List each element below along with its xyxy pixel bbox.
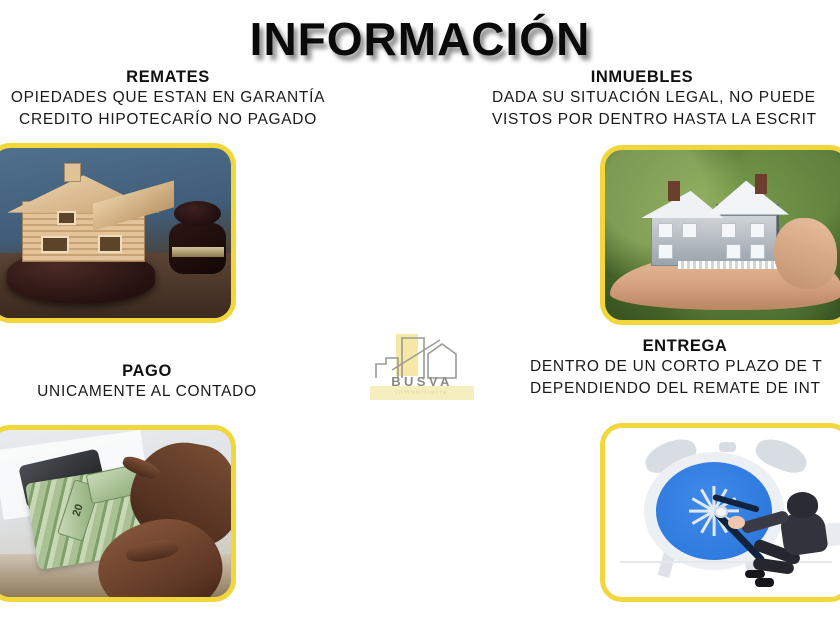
image-card-inmuebles [600, 145, 840, 325]
section-remates-line1: OPIEDADES QUE ESTAN EN GARANTÍA [0, 87, 358, 109]
section-inmuebles-line2: VISTOS POR DENTRO HASTA LA ESCRIT [492, 109, 840, 131]
image-card-pago: 20 20 [0, 425, 236, 602]
section-inmuebles-line1: DADA SU SITUACIÓN LEGAL, NO PUEDE [492, 87, 840, 109]
clock-center-pin [714, 506, 729, 518]
counting-money-photo: 20 20 [0, 430, 231, 597]
section-pago-text: PAGO UNICAMENTE AL CONTADO [0, 362, 312, 403]
cabin-window [57, 211, 76, 225]
section-entrega-heading: ENTREGA [530, 337, 840, 356]
section-pago-line1: UNICAMENTE AL CONTADO [0, 381, 312, 403]
busva-logo: BUSVA inmobiliaria [368, 330, 476, 406]
house-chimney [755, 174, 767, 194]
house-window [726, 244, 741, 259]
house-chimney [668, 181, 680, 201]
section-pago-heading: PAGO [0, 362, 312, 381]
page-title: INFORMACIÓN [0, 12, 840, 66]
hand-house-photo [605, 150, 840, 320]
person-shoe [755, 578, 774, 586]
illustration-floor-line [620, 561, 833, 563]
section-entrega-line2: DEPENDIENDO DEL REMATE DE INT [530, 378, 840, 400]
cabin-window [41, 236, 70, 253]
image-card-remates [0, 143, 236, 323]
logo-name: BUSVA [368, 374, 476, 389]
alarm-knob [719, 442, 736, 452]
section-entrega-text: ENTREGA DENTRO DE UN CORTO PLAZO DE T DE… [530, 337, 840, 400]
house-window [721, 223, 736, 238]
clock-illustration [605, 428, 840, 597]
house-window [750, 223, 765, 238]
section-remates-heading: REMATES [0, 68, 358, 87]
section-entrega-line1: DENTRO DE UN CORTO PLAZO DE T [530, 356, 840, 378]
house-window [682, 223, 697, 238]
logo-buildings-icon [368, 330, 476, 380]
cabin-window [98, 235, 122, 254]
section-remates-text: REMATES OPIEDADES QUE ESTAN EN GARANTÍA … [0, 68, 358, 131]
section-remates-line2: CREDITO HIPOTECARÍO NO PAGADO [0, 109, 358, 131]
person-head [787, 492, 818, 517]
cabin-gavel-photo [0, 148, 231, 318]
house-window [658, 223, 673, 238]
image-card-entrega [600, 423, 840, 602]
logo-subtitle: inmobiliaria [368, 390, 476, 396]
section-inmuebles-heading: INMUEBLES [492, 68, 792, 87]
information-poster: INFORMACIÓN REMATES OPIEDADES QUE ESTAN … [0, 0, 840, 630]
cabin-chimney [64, 163, 81, 182]
house-porch [678, 261, 780, 270]
house-window [658, 244, 673, 259]
person-shoe [745, 570, 764, 578]
house-window [750, 244, 765, 259]
gavel-band [172, 247, 224, 257]
hand-thumb [774, 218, 837, 289]
section-inmuebles-text: INMUEBLES DADA SU SITUACIÓN LEGAL, NO PU… [492, 68, 840, 131]
